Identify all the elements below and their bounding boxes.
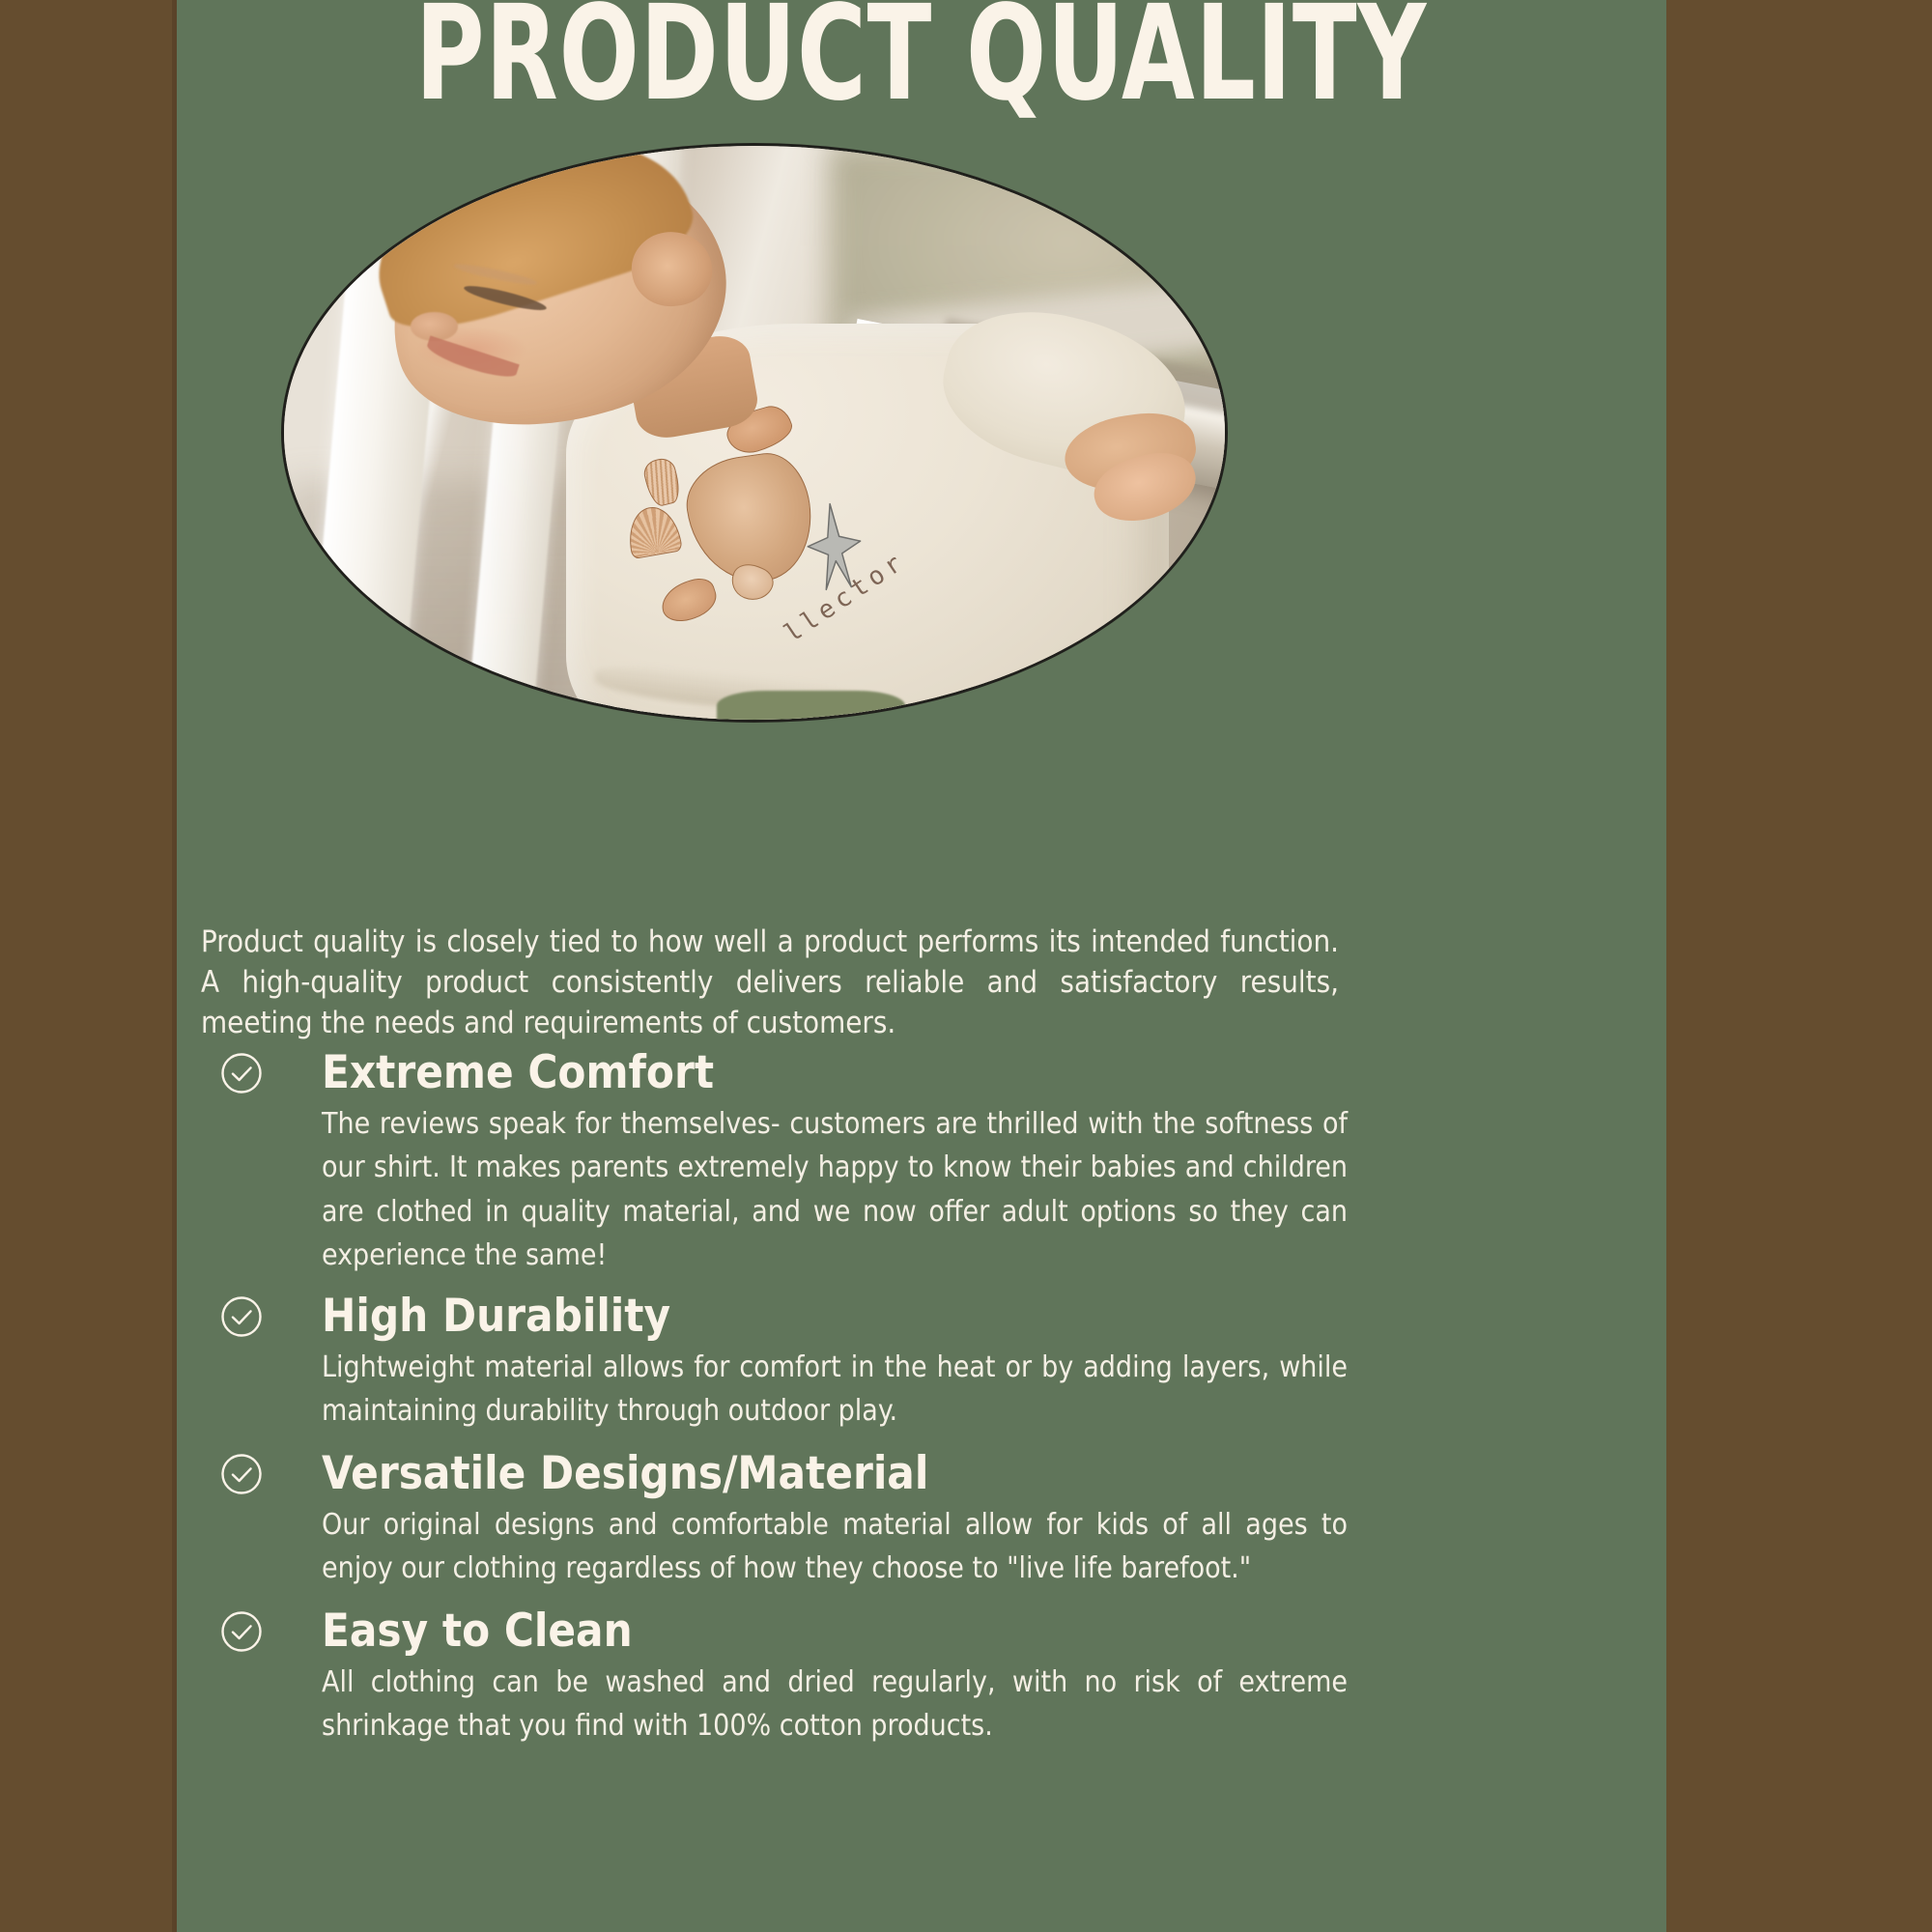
feature-title: Easy to Clean bbox=[322, 1606, 633, 1657]
feature-description: All clothing can be washed and dried reg… bbox=[322, 1661, 1348, 1748]
hero-photo-canvas: llector bbox=[284, 146, 1225, 720]
feature-item-extreme-comfort: Extreme Comfort The reviews speak for th… bbox=[201, 1048, 1350, 1278]
feature-list: Extreme Comfort The reviews speak for th… bbox=[201, 1048, 1350, 1748]
feature-description: Our original designs and comfortable mat… bbox=[322, 1503, 1348, 1591]
feature-header: Extreme Comfort bbox=[201, 1048, 1350, 1098]
hero-photo: llector bbox=[281, 143, 1228, 723]
feature-title: Extreme Comfort bbox=[322, 1048, 714, 1098]
feature-description: Lightweight material allows for comfort … bbox=[322, 1346, 1348, 1434]
page-title: PRODUCT QUALITY bbox=[325, 0, 1517, 120]
feature-description: The reviews speak for themselves- custom… bbox=[322, 1102, 1348, 1278]
feature-item-high-durability: High Durability Lightweight material all… bbox=[201, 1292, 1350, 1434]
feature-title: High Durability bbox=[322, 1292, 670, 1342]
feature-item-easy-to-clean: Easy to Clean All clothing can be washed… bbox=[201, 1606, 1350, 1748]
intro-paragraph: Product quality is closely tied to how w… bbox=[201, 923, 1339, 1044]
shorts bbox=[717, 691, 905, 720]
feature-header: High Durability bbox=[201, 1292, 1350, 1342]
circle-check-icon bbox=[220, 1295, 263, 1338]
circle-check-icon bbox=[220, 1453, 263, 1495]
feature-header: Versatile Designs/Material bbox=[201, 1449, 1350, 1499]
circle-check-icon bbox=[220, 1610, 263, 1653]
content-panel: PRODUCT QUALITY bbox=[176, 0, 1666, 1932]
circle-check-icon bbox=[220, 1052, 263, 1094]
feature-title: Versatile Designs/Material bbox=[322, 1449, 928, 1499]
feature-item-versatile-designs-material: Versatile Designs/Material Our original … bbox=[201, 1449, 1350, 1591]
panel-left-seam bbox=[172, 0, 177, 1932]
feature-header: Easy to Clean bbox=[201, 1606, 1350, 1657]
